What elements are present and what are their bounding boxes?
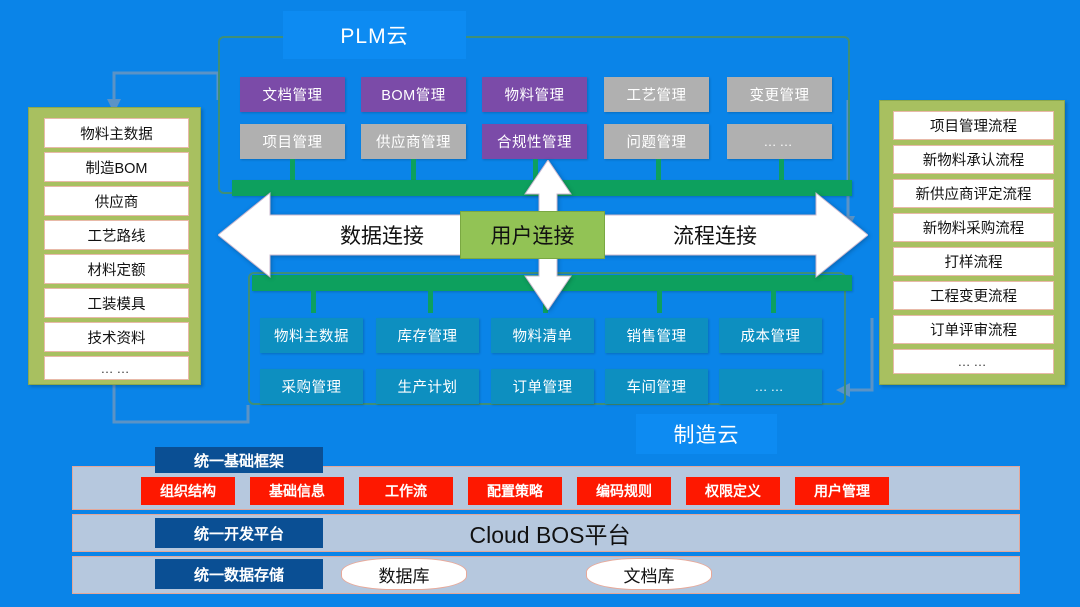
plm-module-more[interactable]: …… (727, 124, 832, 159)
connector-plm-to-left-panel (114, 73, 218, 103)
connector-mfg-to-right-panel (845, 318, 872, 390)
mfg-module-xiaoshou[interactable]: 销售管理 (605, 318, 708, 353)
connector-label-user: 用户连接 (460, 211, 605, 259)
left-panel-item-0[interactable]: 物料主数据 (44, 118, 189, 148)
plm-stem-4 (656, 159, 661, 181)
platform-label-foundation: 统一基础框架 (155, 447, 323, 473)
right-panel-item-7[interactable]: …… (893, 349, 1054, 374)
plm-module-more-label: …… (764, 134, 796, 149)
left-panel: 物料主数据 制造BOM 供应商 工艺路线 材料定额 工装模具 技术资料 …… (28, 107, 201, 385)
mfg-module-more-label: …… (755, 379, 787, 394)
platform-title: Cloud BOS平台 (430, 518, 670, 548)
right-panel-item-4[interactable]: 打样流程 (893, 247, 1054, 276)
mfg-module-chejian[interactable]: 车间管理 (605, 369, 708, 404)
platform-chip-bianmaguize[interactable]: 编码规则 (577, 477, 671, 505)
platform-chip-jichuxinxi[interactable]: 基础信息 (250, 477, 344, 505)
plm-module-wuliao[interactable]: 物料管理 (482, 77, 587, 112)
mfg-module-caigou[interactable]: 采购管理 (260, 369, 363, 404)
right-panel-item-5[interactable]: 工程变更流程 (893, 281, 1054, 310)
mfg-module-kucun[interactable]: 库存管理 (376, 318, 479, 353)
platform-store-database[interactable]: 数据库 (341, 558, 467, 590)
left-panel-item-7[interactable]: …… (44, 356, 189, 380)
left-panel-item-6[interactable]: 技术资料 (44, 322, 189, 352)
left-panel-item-1[interactable]: 制造BOM (44, 152, 189, 182)
connector-left-panel-to-mfg (114, 385, 248, 422)
plm-stem-2 (411, 159, 416, 181)
right-panel-item-0[interactable]: 项目管理流程 (893, 111, 1054, 140)
mfg-stem-4 (657, 291, 662, 313)
mfg-stem-5 (771, 291, 776, 313)
mfg-module-shengchan[interactable]: 生产计划 (376, 369, 479, 404)
plm-module-bom[interactable]: BOM管理 (361, 77, 466, 112)
platform-label-dev: 统一开发平台 (155, 518, 323, 548)
right-panel-item-2[interactable]: 新供应商评定流程 (893, 179, 1054, 208)
plm-module-xiangmu[interactable]: 项目管理 (240, 124, 345, 159)
plm-module-wendangguanli[interactable]: 文档管理 (240, 77, 345, 112)
mfg-stem-2 (428, 291, 433, 313)
connector-label-data: 数据连接 (307, 212, 457, 257)
mfg-module-chengben[interactable]: 成本管理 (719, 318, 822, 353)
plm-module-gongyingshang[interactable]: 供应商管理 (361, 124, 466, 159)
mfg-module-wuliaozhushuju[interactable]: 物料主数据 (260, 318, 363, 353)
right-panel-item-6[interactable]: 订单评审流程 (893, 315, 1054, 344)
left-panel-item-2[interactable]: 供应商 (44, 186, 189, 216)
platform-chip-zuzhijiegou[interactable]: 组织结构 (141, 477, 235, 505)
platform-chip-yonghuguanli[interactable]: 用户管理 (795, 477, 889, 505)
platform-chip-quanxiandingyi[interactable]: 权限定义 (686, 477, 780, 505)
right-panel: 项目管理流程 新物料承认流程 新供应商评定流程 新物料采购流程 打样流程 工程变… (879, 100, 1065, 385)
right-panel-item-3[interactable]: 新物料采购流程 (893, 213, 1054, 242)
plm-stem-1 (290, 159, 295, 181)
mfg-cloud-title: 制造云 (636, 414, 777, 454)
plm-cloud-title: PLM云 (283, 11, 466, 59)
connector-label-process: 流程连接 (640, 212, 790, 257)
plm-module-wenti[interactable]: 问题管理 (604, 124, 709, 159)
diagram-canvas: PLM云 文档管理 BOM管理 物料管理 工艺管理 变更管理 项目管理 供应商管… (0, 0, 1080, 607)
left-panel-item-3[interactable]: 工艺路线 (44, 220, 189, 250)
plm-module-gongyi[interactable]: 工艺管理 (604, 77, 709, 112)
left-panel-item-4[interactable]: 材料定额 (44, 254, 189, 284)
mfg-module-wuliaoqingdan[interactable]: 物料清单 (491, 318, 594, 353)
right-panel-item-1[interactable]: 新物料承认流程 (893, 145, 1054, 174)
mfg-stem-1 (311, 291, 316, 313)
mfg-module-more[interactable]: …… (719, 369, 822, 404)
platform-label-storage: 统一数据存储 (155, 559, 323, 589)
plm-stem-5 (779, 159, 784, 181)
mfg-module-dingdan[interactable]: 订单管理 (491, 369, 594, 404)
platform-chip-gongzuoliu[interactable]: 工作流 (359, 477, 453, 505)
left-panel-item-5[interactable]: 工装模具 (44, 288, 189, 318)
platform-store-docrepo[interactable]: 文档库 (586, 558, 712, 590)
plm-module-biangeng[interactable]: 变更管理 (727, 77, 832, 112)
plm-module-heguixing[interactable]: 合规性管理 (482, 124, 587, 159)
platform-chip-peizhicelue[interactable]: 配置策略 (468, 477, 562, 505)
